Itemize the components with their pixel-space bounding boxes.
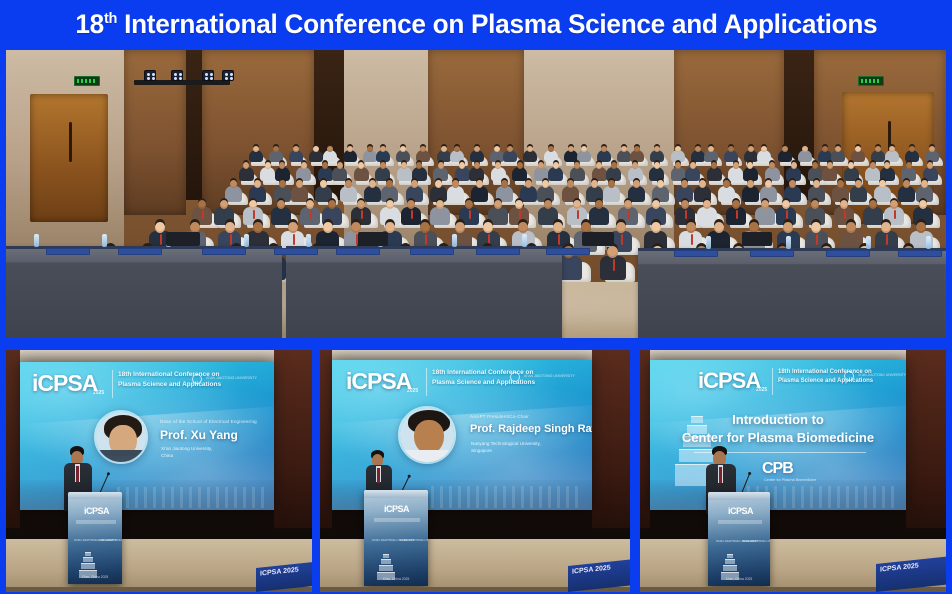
audience-head [567, 180, 574, 188]
laptop [358, 232, 388, 246]
podium-1: iCPSA XI'AN JIAOTONG UNIVERSITY XI'AN JI… [68, 492, 122, 584]
podium-date-3: Xi'an, China 2025 [708, 577, 770, 581]
speaker-affiliation-1a: Xi'an Jiaotong University, [161, 446, 212, 453]
delegate-nameplate [118, 248, 162, 255]
podium-seal-right-1: XI'AN JIAOTONG UNIVERSITY [98, 538, 122, 542]
pagoda-tier [85, 552, 91, 556]
audience-head [220, 200, 228, 209]
audience-head [699, 180, 706, 188]
audience-head [465, 200, 473, 209]
audience-head [654, 162, 660, 169]
water-bottle [306, 234, 311, 247]
audience-body [850, 186, 867, 202]
speaker-panels: iCPSA 2025 18th International Conference… [0, 348, 952, 594]
audience-body [271, 207, 291, 225]
stage-banner-text-2: ICPSA 2025 [572, 565, 611, 576]
audience-body [923, 167, 938, 181]
podium-top-surface-1 [68, 492, 122, 499]
delegate-nameplate [410, 248, 454, 255]
audience-lanyard [558, 234, 560, 245]
audience-head [686, 222, 696, 233]
host-university-name-3: XI'AN JIAOTONG UNIVERSITY [858, 373, 906, 377]
stage-light-4 [222, 70, 234, 81]
speaker-name-2: Prof. Rajdeep Singh Rawat [470, 423, 592, 435]
audience-body [649, 167, 664, 181]
delegate-nameplate [46, 248, 90, 255]
laptop [166, 232, 200, 246]
audience-head [769, 162, 775, 169]
audience-head [548, 146, 554, 152]
audience-head [573, 200, 581, 209]
audience-head [568, 146, 574, 152]
wall-recess-1 [186, 50, 202, 200]
podium-band-1 [76, 520, 116, 524]
portrait-face-2 [414, 420, 444, 454]
audience-body [520, 186, 537, 202]
speaker-tie-1 [76, 466, 79, 482]
icpsa-logo-3: iCPSA [698, 368, 760, 394]
audience-body [743, 167, 758, 181]
audience-head [879, 180, 886, 188]
audience-head [870, 162, 876, 169]
audience-head [155, 222, 165, 233]
audience-head [869, 200, 877, 209]
audience-body [628, 186, 645, 202]
head-table-left [6, 246, 282, 338]
audience-head [695, 146, 701, 152]
audience-body [628, 167, 643, 181]
audience-head [906, 162, 912, 169]
audience-lanyard [685, 210, 687, 219]
audience-body [375, 167, 390, 181]
audience-lanyard [230, 234, 232, 245]
audience-head [596, 162, 602, 169]
stage-light-3 [202, 70, 214, 81]
pagoda-tier [81, 563, 95, 569]
audience-head [517, 162, 523, 169]
audience-head [357, 200, 365, 209]
pagoda-tier [725, 559, 735, 564]
title-ordinal-suffix: th [104, 10, 117, 27]
laptop [742, 232, 772, 246]
side-wall-left-2 [320, 350, 332, 528]
audience-lanyard [160, 234, 162, 245]
audience-lanyard [469, 210, 471, 219]
audience-body [808, 167, 823, 181]
water-bottle [244, 234, 249, 247]
speaker-tie-2 [377, 468, 380, 483]
audience-body [755, 207, 775, 225]
delegate-nameplate [898, 250, 942, 257]
audience-head [714, 222, 724, 233]
icpsa-logo-year-3: 2025 [756, 387, 767, 393]
audience-lanyard [253, 210, 255, 219]
exit-sign-right [858, 76, 884, 86]
audience-head [265, 162, 271, 169]
audience-head [328, 200, 336, 209]
audience-head [929, 146, 935, 152]
portrait-shirt-2 [400, 450, 454, 462]
audience-head [651, 222, 661, 233]
podium-icpsa-logo-3: iCPSA [728, 506, 753, 516]
audience-head [225, 222, 235, 233]
speaker-name-1: Prof. Xu Yang [160, 428, 238, 442]
audience-lanyard [293, 234, 295, 245]
podium-seal-right-3: XI'AN JIAOTONG UNIVERSITY [742, 539, 770, 543]
title-ordinal-number: 18 [75, 9, 104, 39]
audience-body [832, 186, 849, 202]
icpsa-logo-year-1: 2025 [93, 390, 104, 396]
podium-band-3 [718, 520, 762, 524]
talk-title-line-1: Introduction to [650, 412, 906, 428]
side-wall-right-2 [592, 350, 630, 528]
audience-head [802, 146, 808, 152]
audience-body [471, 186, 488, 202]
audience-head [296, 180, 303, 188]
audience-head [909, 146, 915, 152]
audience-head [435, 180, 442, 188]
delegate-nameplate [274, 248, 318, 255]
audience-body [786, 167, 801, 181]
speaker-affiliation-1b: China [161, 453, 173, 460]
audience-head [791, 162, 797, 169]
audience-body [512, 167, 527, 181]
audience-body [239, 167, 254, 181]
audience-body [364, 186, 381, 202]
audience-head [675, 146, 681, 152]
audience-body [275, 167, 290, 181]
speaker-role-1: Dean of the School of Electrical Enginee… [160, 419, 257, 424]
delegate-nameplate [826, 250, 870, 257]
audience-body [469, 167, 484, 181]
delegate-nameplate [750, 250, 794, 257]
audience-lanyard [411, 210, 413, 219]
screen-cityscape-1 [20, 480, 274, 510]
audience-lanyard [844, 210, 846, 219]
audience-head [633, 180, 640, 188]
audience-head [436, 200, 444, 209]
host-university-seal-3 [844, 371, 854, 381]
delegate-nameplate [476, 248, 520, 255]
water-bottle [706, 236, 711, 249]
side-wall-right-3 [906, 350, 946, 528]
water-bottle [452, 234, 457, 247]
side-wall-right-1 [274, 350, 312, 528]
audience-body [898, 186, 915, 202]
audience-body [874, 186, 891, 202]
conference-line-3b: Plasma Science and Applications [778, 378, 873, 384]
audience-body [765, 167, 780, 181]
panel-cpb-introduction: iCPSA 2025 18th International Conference… [640, 350, 946, 592]
pagoda-tier [379, 565, 393, 571]
audience-body [291, 186, 308, 202]
audience-head [732, 200, 740, 209]
audience-lanyard [202, 210, 204, 219]
side-wall-left-1 [6, 350, 20, 528]
water-bottle [926, 236, 931, 249]
podium-band-2 [374, 518, 420, 522]
audience-head [822, 146, 828, 152]
speaker-portrait-1 [94, 410, 148, 464]
podium-top-surface-2 [364, 490, 428, 498]
audience-head [782, 146, 788, 152]
audience-body [697, 207, 717, 225]
water-bottle [102, 234, 107, 247]
audience-head [624, 200, 632, 209]
podium-top-surface-3 [708, 492, 770, 500]
audience-head [708, 146, 714, 152]
audience-head [789, 180, 796, 188]
page-title: 18th International Conference on Plasma … [75, 9, 877, 40]
audience-head [416, 162, 422, 169]
pagoda-tier [723, 565, 737, 571]
audience-body [430, 207, 450, 225]
logo-divider-3 [772, 368, 773, 395]
audience-body [332, 167, 347, 181]
audience-head [474, 162, 480, 169]
head-table-right [638, 248, 946, 338]
audience-head [279, 180, 286, 188]
audience-lanyard [628, 210, 630, 219]
podium-date-2: Xi'an, China 2025 [364, 577, 428, 581]
water-bottle [522, 234, 527, 247]
audience-head [827, 162, 833, 169]
audience-head [323, 222, 333, 233]
audience-head [595, 200, 603, 209]
audience-head [657, 180, 664, 188]
audience-body [707, 167, 722, 181]
audience-head [301, 162, 307, 169]
audience-body [397, 167, 412, 181]
audience-lanyard [736, 210, 738, 219]
audience-head [369, 180, 376, 188]
audience-head [288, 222, 298, 233]
portrait-shirt-1 [96, 450, 146, 462]
audience-head [501, 180, 508, 188]
audience-head [616, 222, 626, 233]
host-university-seal-1 [192, 374, 202, 384]
audience-head [494, 146, 500, 152]
audience-head [441, 146, 447, 152]
audience-body [318, 167, 333, 181]
podium-date-1: Xi'an, China 2025 [68, 575, 122, 579]
speaker-role-2: AAAPT President/Co-Chair [470, 414, 529, 419]
speaker-portrait-2 [398, 406, 456, 464]
audience-head [553, 222, 563, 233]
audience-head [243, 162, 249, 169]
audience-head [690, 162, 696, 169]
conference-line-2b: Plasma Science and Applications [432, 379, 535, 386]
audience-head [327, 146, 333, 152]
hall-door-left [30, 94, 108, 222]
logo-divider-1 [112, 370, 113, 398]
icpsa-logo-1: iCPSA [32, 370, 97, 397]
audience-head [855, 180, 862, 188]
audience-lanyard [691, 234, 693, 245]
audience-head [723, 180, 730, 188]
talk-title-line-2: Center for Plasma Biomedicine [650, 430, 906, 446]
audience-body [671, 167, 686, 181]
audience-body [570, 167, 585, 181]
head-table-center [286, 246, 562, 338]
stage-banner-text-3: ICPSA 2025 [880, 563, 919, 574]
audience-body [260, 167, 275, 181]
cpb-logo-subtitle: Center for Plasma Biomedicine [764, 478, 816, 482]
delegate-nameplate [202, 248, 246, 255]
audience-body [603, 186, 620, 202]
side-wall-left-3 [640, 350, 650, 528]
projection-screen-3: iCPSA 2025 18th International Conference… [650, 360, 906, 510]
audience-head [811, 200, 819, 209]
audience-head [253, 146, 259, 152]
audience-lanyard [488, 234, 490, 245]
projection-screen-1: iCPSA 2025 18th International Conference… [20, 362, 274, 510]
logo-divider-2 [426, 368, 427, 396]
water-bottle [866, 236, 871, 249]
pagoda-tier [83, 557, 93, 562]
audience-head [474, 146, 480, 152]
audience-body [433, 167, 448, 181]
stage-light-1 [144, 70, 156, 81]
audience-body [340, 186, 357, 202]
audience-head [765, 180, 772, 188]
audience-head [591, 180, 598, 188]
audience-lanyard [361, 210, 363, 219]
audience-head [525, 180, 532, 188]
stage-light-2 [171, 70, 183, 81]
audience-head [454, 146, 460, 152]
audience-body [548, 167, 563, 181]
audience-head [198, 200, 206, 209]
pagoda-tier [679, 449, 715, 462]
audience-body [491, 167, 506, 181]
podium-seal-right-2: XI'AN JIAOTONG UNIVERSITY [400, 538, 428, 542]
poster-header-banner: 18th International Conference on Plasma … [0, 0, 952, 48]
audience-head [494, 200, 502, 209]
stage-banner-text-1: ICPSA 2025 [260, 567, 299, 578]
host-university-seal-2 [510, 372, 520, 382]
icpsa-logo-year-2: 2025 [407, 388, 418, 394]
audience-head [249, 200, 257, 209]
audience-lanyard [786, 210, 788, 219]
audience-body [534, 167, 549, 181]
podium-2: iCPSA XI'AN JIAOTONG UNIVERSITY XI'AN JI… [364, 490, 428, 586]
podium-icpsa-logo-2: iCPSA [384, 504, 409, 514]
audience-body [865, 167, 880, 181]
audience-head [601, 146, 607, 152]
audience-head [703, 200, 711, 209]
audience-head [840, 200, 848, 209]
conference-line-1b: Plasma Science and Applications [118, 381, 221, 388]
audience-lanyard [886, 234, 888, 245]
audience-body [718, 186, 735, 202]
water-bottle [34, 234, 39, 247]
exit-sign [74, 76, 100, 86]
audience-head [835, 146, 841, 152]
delegate-nameplate [674, 250, 718, 257]
audience-head [889, 146, 895, 152]
panel-xu-yang: iCPSA 2025 18th International Conference… [6, 350, 312, 592]
audience-body [822, 167, 837, 181]
delegate-nameplate [336, 248, 380, 255]
audience-body [606, 167, 621, 181]
cpb-logo: CPB [762, 460, 793, 478]
audience-head [253, 222, 263, 233]
podium-icpsa-logo-1: iCPSA [84, 506, 109, 516]
audience-head [386, 200, 394, 209]
audience-lanyard [621, 234, 623, 245]
laptop [582, 232, 614, 246]
audience-body [863, 207, 883, 225]
speaker-tie-3 [719, 467, 722, 483]
audience-body [592, 167, 607, 181]
audience-body [685, 167, 700, 181]
host-university-name-1: XI'AN JIAOTONG UNIVERSITY [206, 376, 257, 380]
audience-lanyard [577, 210, 579, 219]
audience-body [455, 167, 470, 181]
speaker-affiliation-2a: Nanyang Technological University, [471, 441, 541, 448]
audience-body [901, 167, 916, 181]
audience-body [589, 207, 609, 225]
audience-body [225, 186, 242, 202]
pagoda-tier [727, 554, 733, 558]
audience-head [611, 162, 617, 169]
water-bottle [786, 236, 791, 249]
audience-body [844, 167, 859, 181]
audience-body [412, 167, 427, 181]
audience-head [761, 200, 769, 209]
conference-poster: 18th International Conference on Plasma … [0, 0, 952, 594]
group-photo [6, 50, 946, 338]
audience-body [447, 186, 464, 202]
audience-head [380, 162, 386, 169]
audience-head [347, 146, 353, 152]
panel-rajdeep-singh-rawat: iCPSA 2025 18th International Conference… [320, 350, 630, 592]
audience-head [581, 146, 587, 152]
audience-body [880, 167, 895, 181]
host-university-name-2: XI'AN JIAOTONG UNIVERSITY [524, 374, 575, 378]
audience-head [367, 146, 373, 152]
audience-lanyard [310, 210, 312, 219]
icpsa-logo-2: iCPSA [346, 368, 411, 395]
speaker-affiliation-2b: Singapore [471, 448, 492, 455]
audience-head [733, 162, 739, 169]
title-rest: International Conference on Plasma Scien… [117, 9, 877, 39]
audience-head [438, 162, 444, 169]
audience-body [354, 167, 369, 181]
pagoda-tier [381, 559, 391, 564]
delegate-nameplate [546, 248, 590, 255]
audience-head [230, 180, 237, 188]
audience-head [921, 180, 928, 188]
audience-head [345, 180, 352, 188]
audience-body [728, 167, 743, 181]
audience-body [296, 167, 311, 181]
podium-3: iCPSA XI'AN JIAOTONG UNIVERSITY XI'AN JI… [708, 492, 770, 586]
pagoda-tier [383, 554, 389, 558]
conference-line-1a: 18th International Conference on [118, 371, 220, 378]
audience-head [411, 180, 418, 188]
audience-head [337, 162, 343, 169]
audience-body [742, 186, 759, 202]
audience-head [553, 162, 559, 169]
